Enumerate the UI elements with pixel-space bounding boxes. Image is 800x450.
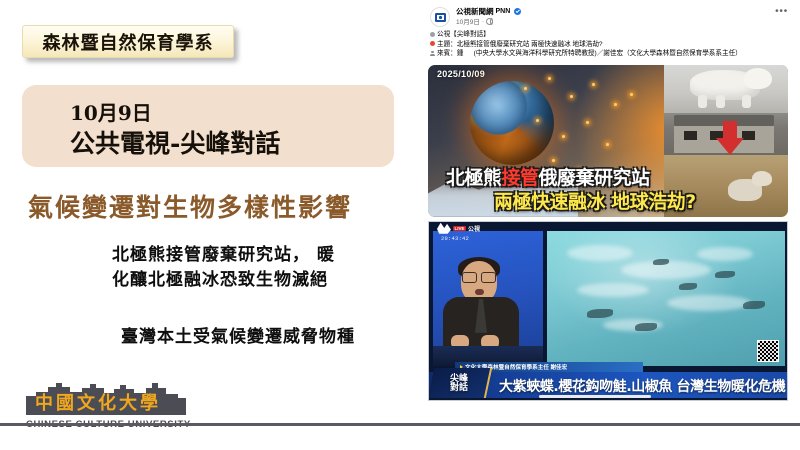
- thumbnail-title: 北極熊接管俄廢棄研究站: [446, 163, 650, 190]
- department-banner-label: 森林暨自然保育學系: [43, 29, 214, 55]
- bullet-line-2: 化釀北極融冰恐致生物滅絕: [112, 268, 412, 293]
- program-date: 10月9日: [70, 97, 152, 126]
- post-thumbnail-tv-show[interactable]: LIVE 公視 20:43:42 文化大學森: [428, 221, 788, 401]
- presentation-slide: 森林暨自然保育學系 10月9日 公共電視-尖峰對話 氣候變遷對生物多樣性影響 北…: [0, 0, 800, 450]
- post-thumbnail-polar-bear[interactable]: 2025/10/09: [428, 65, 788, 217]
- polar-bear-photo-bottom: [728, 167, 772, 203]
- guest-mouth: [475, 289, 484, 295]
- broadcast-headline: 大紫蛺蝶.櫻花鈎吻鮭.山椒魚 台灣生物暖化危機: [499, 376, 785, 396]
- post-line-3-text: 來賓：鍾 (中央大學水文與海洋科學研究所特聘教授)／謝佳宏（文化大學森林暨自然保…: [437, 49, 742, 59]
- department-banner: 森林暨自然保育學系: [22, 25, 234, 58]
- qr-code-icon: [757, 340, 779, 362]
- person-icon: [430, 51, 435, 57]
- post-timestamp[interactable]: 10月9日: [456, 16, 480, 26]
- show-badge: 尖峰對話: [428, 368, 492, 398]
- university-name-zh: 中國文化大學: [35, 389, 161, 415]
- thumbnail-title-part1: 北極熊: [446, 167, 502, 189]
- red-dot-icon: [430, 41, 435, 46]
- post-meta: 10月9日 ·: [456, 16, 493, 26]
- underwater-footage: [547, 231, 785, 366]
- gray-dot-icon: [430, 32, 435, 37]
- channel-logo: LIVE 公視: [437, 223, 480, 234]
- video-progress-bar[interactable]: [539, 395, 651, 398]
- facebook-post: 公視新聞網 PNN 10月9日 · ••• 公視【尖峰對話】 主題：北極熊接管俄…: [428, 3, 794, 421]
- thumbnail-title-highlight: 接管: [502, 167, 539, 189]
- program-show-name: 公共電視-尖峰對話: [70, 124, 280, 160]
- post-line-1: 公視【尖峰對話】: [430, 30, 794, 40]
- show-badge-line2: 對話: [450, 382, 468, 392]
- ellipsis-icon[interactable]: •••: [775, 9, 788, 15]
- bullet-line-1: 北極熊接管廢棄研究站， 暖: [112, 243, 412, 268]
- verified-badge-icon: [514, 8, 521, 15]
- pts-mark-icon: [437, 223, 451, 234]
- post-line-1-text: 公視【尖峰對話】: [437, 30, 490, 40]
- facebook-post-body: 公視【尖峰對話】 主題：北極熊接管俄廢棄研究站 兩極快速融冰 地球浩劫? 來賓：…: [428, 29, 794, 62]
- polar-bear-photo-top: [664, 65, 788, 113]
- red-arrow-icon: [716, 121, 744, 155]
- post-line-3: 來賓：鍾 (中央大學水文與海洋科學研究所特聘教授)／謝佳宏（文化大學森林暨自然保…: [430, 49, 794, 59]
- thumbnail-subtitle: 兩極快速融冰 地球浩劫?: [494, 187, 696, 214]
- avatar[interactable]: [430, 7, 450, 27]
- channel-name: 公視: [468, 224, 480, 233]
- glasses-icon: [462, 272, 496, 281]
- bullet-group-one: 北極熊接管廢棄研究站， 暖 化釀北極融冰恐致生物滅絕: [112, 243, 412, 292]
- bullet-line-3: 臺灣本土受氣候變遷威脅物種: [121, 322, 355, 347]
- post-line-2: 主題：北極熊接管俄廢棄研究站 兩極快速融冰 地球浩劫?: [430, 40, 794, 50]
- thumbnail-title-part2: 俄廢棄研究站: [539, 167, 650, 189]
- pts-logo-icon: [434, 11, 447, 24]
- facebook-post-header: 公視新聞網 PNN 10月9日 · •••: [428, 3, 794, 29]
- page-name-en: PNN: [496, 8, 511, 15]
- broadcast-clock: 20:43:42: [441, 235, 469, 242]
- thumbnail-date-overlay: 2025/10/09: [437, 69, 485, 79]
- live-badge: LIVE: [453, 226, 466, 231]
- footer-rule: [0, 423, 800, 426]
- topic-heading: 氣候變遷對生物多樣性影響: [28, 188, 352, 224]
- program-info-box: 10月9日 公共電視-尖峰對話: [22, 85, 394, 167]
- post-line-2-text: 主題：北極熊接管俄廢棄研究站 兩極快速融冰 地球浩劫?: [437, 40, 603, 50]
- globe-icon: [486, 18, 493, 25]
